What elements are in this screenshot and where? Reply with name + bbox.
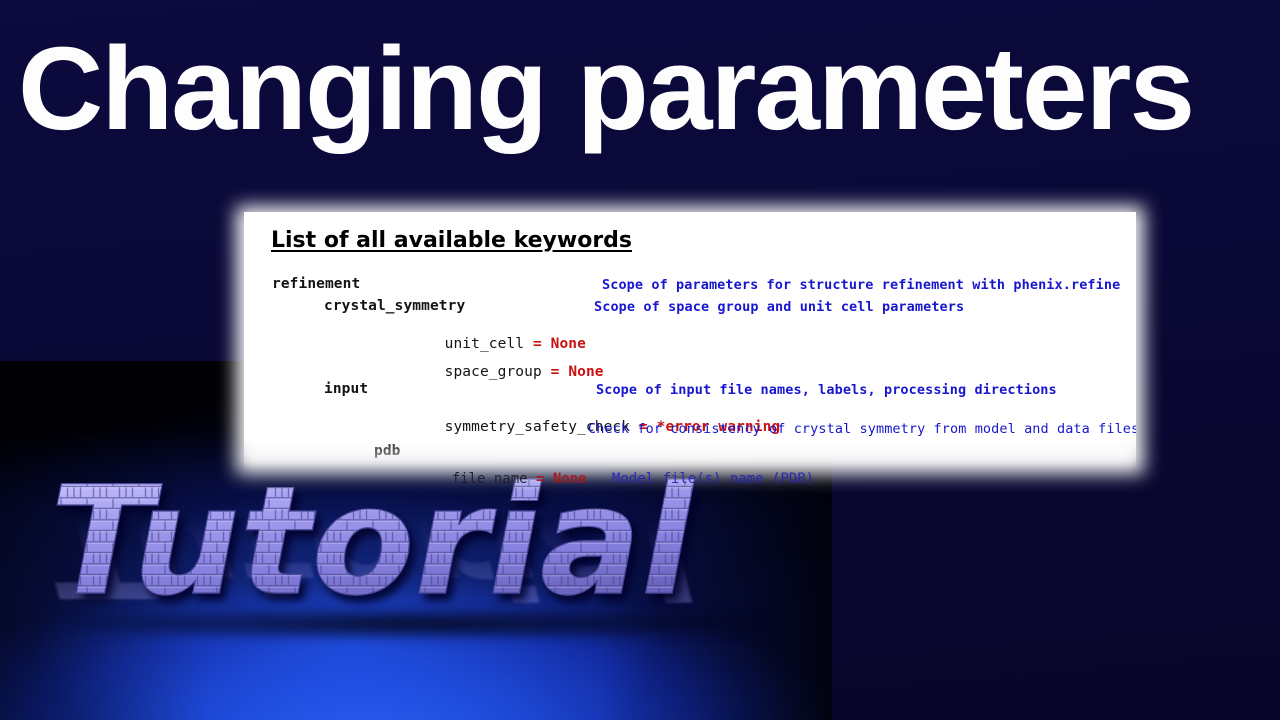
keyword-file-name-name: file_name [452,471,528,487]
keyword-pdb: pdb [374,443,401,459]
description-crystal-symmetry: Scope of space group and unit cell param… [594,299,964,315]
keywords-screenshot: List of all available keywords refinemen… [236,206,1144,474]
keyword-file-name-row: file_name = None Model file(s) name (PDB… [418,455,814,503]
screenshot-heading: List of all available keywords [271,228,632,253]
keyword-file-name-value: None [553,471,587,487]
description-refinement: Scope of parameters for structure refine… [602,277,1120,293]
description-symmetry-safety-check: Check for consistency of crystal symmetr… [588,421,1139,437]
page-title: Changing parameters [18,30,1268,148]
description-file-name: Model file(s) name (PDB) [612,471,814,487]
screenshot-panel: List of all available keywords refinemen… [244,212,1136,468]
description-input: Scope of input file names, labels, proce… [596,382,1057,398]
keyword-refinement: refinement [272,276,360,292]
keyword-crystal-symmetry: crystal_symmetry [324,298,465,314]
keyword-space-group: space_group = None [374,348,604,396]
keyword-space-group-name: space_group [445,364,542,380]
keyword-input: input [324,381,368,397]
keyword-space-group-value: None [568,364,603,380]
slide-root: Tutorial [0,0,1280,720]
